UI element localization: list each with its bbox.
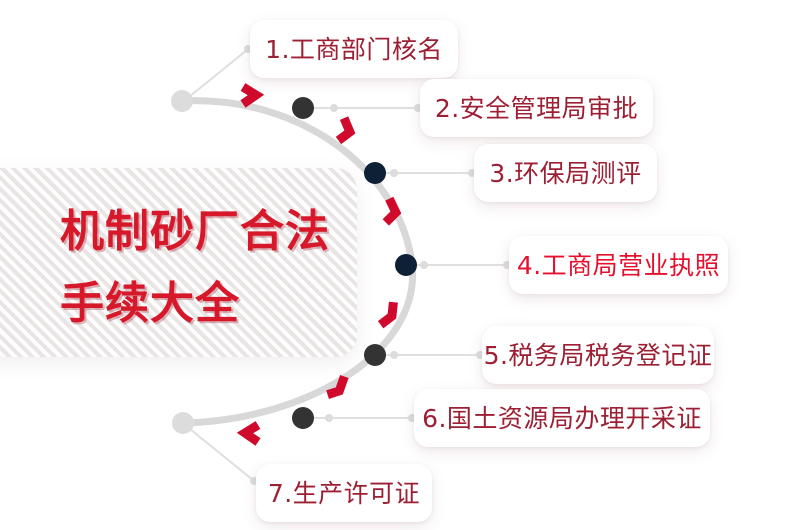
step-label-2[interactable]: 2.安全管理局审批: [420, 79, 653, 137]
arrow-chevron-4: [381, 302, 394, 325]
step-label-3-text: 3.环保局测评: [489, 161, 641, 186]
arrow-chevron-1: [243, 87, 256, 104]
step-label-4-text: 4.工商局营业执照: [517, 253, 720, 278]
step-label-7[interactable]: 7.生产许可证: [256, 464, 432, 522]
step-label-5[interactable]: 5.税务局税务登记证: [482, 326, 714, 384]
connector-dot-6a: [325, 414, 333, 422]
process-arc: [182, 101, 413, 423]
connector-step-1: [184, 50, 247, 101]
connector-dot-2a: [330, 104, 338, 112]
step-label-6[interactable]: 6.国土资源局办理开采证: [414, 389, 710, 447]
node-dot-step-4[interactable]: [395, 254, 417, 276]
node-dot-step-2[interactable]: [292, 97, 314, 119]
arrow-chevron-6: [245, 425, 258, 442]
node-dot-step-5[interactable]: [364, 344, 386, 366]
arrow-chevron-3: [386, 199, 397, 224]
arrow-chevron-2: [338, 118, 352, 142]
step-label-7-text: 7.生产许可证: [268, 481, 420, 506]
step-label-1-text: 1.工商部门核名: [265, 37, 443, 62]
infographic-canvas: 机制砂厂合法 手续大全: [0, 0, 800, 530]
node-dot-step-6[interactable]: [292, 407, 314, 429]
step-label-5-text: 5.税务局税务登记证: [484, 343, 713, 368]
connector-dot-5a: [390, 351, 398, 359]
step-label-1[interactable]: 1.工商部门核名: [250, 20, 458, 78]
step-label-6-text: 6.国土资源局办理开采证: [422, 406, 702, 431]
step-label-2-text: 2.安全管理局审批: [435, 96, 638, 121]
node-dot-start[interactable]: [171, 90, 193, 112]
step-label-3[interactable]: 3.环保局测评: [474, 144, 657, 202]
connector-dot-4a: [420, 261, 428, 269]
step-label-4[interactable]: 4.工商局营业执照: [509, 236, 728, 294]
connector-dot-3a: [390, 169, 398, 177]
node-dot-end[interactable]: [172, 412, 194, 434]
node-dot-step-3[interactable]: [364, 162, 386, 184]
